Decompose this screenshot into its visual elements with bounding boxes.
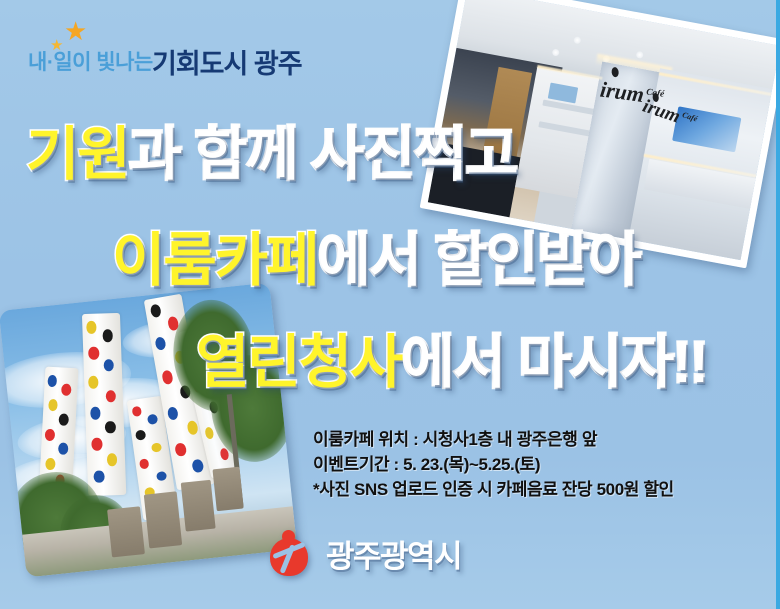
photo-dot-sculpture (0, 283, 297, 578)
star-icon: ★ (64, 18, 90, 44)
detail-discount-note: *사진 SNS 업로드 인증 시 카페음료 잔당 500원 할인 (313, 477, 674, 502)
brand-city-mark: 기회도시 광주 (152, 42, 302, 81)
dot-tower (82, 313, 126, 496)
gwangju-city-emblem-icon (268, 530, 310, 576)
headline-2-highlight: 이룸카페 (112, 228, 317, 293)
detail-location: 이룸카페 위치 : 시청사1층 내 광주은행 앞 (313, 427, 674, 452)
headline-3-highlight: 열린청사 (196, 330, 401, 395)
planter (144, 492, 182, 549)
planter (181, 480, 216, 531)
cafe-sign-sub: Café (681, 110, 699, 123)
gwangju-brand-logo: ★ ★ 내·일이 빛나는 기회도시 광주 (24, 18, 294, 80)
headline-1-plain: 과 함께 사진찍고 (129, 122, 517, 187)
poster-canvas: irumCafé irumCafé ★ ★ 내·일이 빛나는 기회도시 광주 기… (0, 0, 780, 609)
headline-line-2: 이룸카페에서 할인받아 (112, 232, 640, 290)
headline-2-plain: 에서 할인받아 (317, 228, 639, 293)
brand-slogan: 내·일이 빛나는 (28, 46, 153, 76)
detail-period: 이벤트기간 : 5. 23.(목)~5.25.(토) (313, 452, 674, 477)
headline-line-3: 열린청사에서 마시자!! (196, 334, 707, 392)
headline-1-highlight: 기원 (26, 122, 129, 187)
event-details: 이룸카페 위치 : 시청사1층 내 광주은행 앞 이벤트기간 : 5. 23.(… (313, 427, 674, 502)
headline-3-plain: 에서 마시자!! (401, 330, 707, 395)
headline-line-1: 기원과 함께 사진찍고 (26, 126, 516, 184)
planter (107, 506, 144, 557)
planter (212, 466, 244, 511)
right-edge-accent-strip (776, 0, 780, 609)
footer-city-logo: 광주광역시 (268, 530, 461, 576)
footer-city-name: 광주광역시 (326, 531, 461, 576)
